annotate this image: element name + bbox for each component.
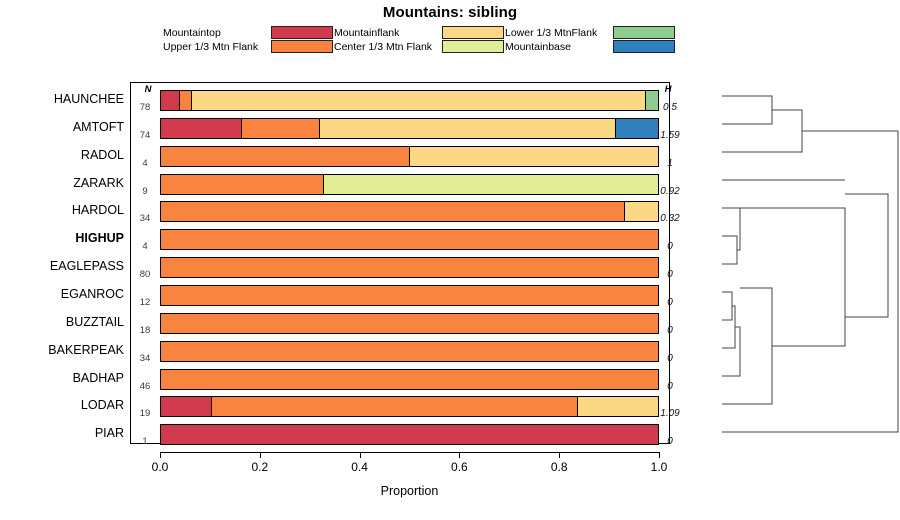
legend-swatch-icon	[442, 26, 504, 39]
row-n-value: 12	[132, 297, 158, 308]
row-label-lodar: LODAR	[0, 398, 124, 412]
row-label-buzztail: BUZZTAIL	[0, 315, 124, 329]
row-n-value: 9	[132, 186, 158, 197]
row-label-highup: HIGHUP	[0, 231, 124, 245]
legend-item-label: Mountainbase	[505, 40, 571, 54]
row-label-amtoft: AMTOFT	[0, 120, 124, 134]
x-tick-label: 1.0	[639, 460, 679, 474]
stacked-bar[interactable]	[160, 369, 659, 390]
row-label-badhap: BADHAP	[0, 371, 124, 385]
bar-segment[interactable]	[161, 202, 625, 221]
row-n-value: 18	[132, 325, 158, 336]
row-n-value: 46	[132, 381, 158, 392]
bar-segment[interactable]	[161, 91, 180, 110]
bar-segment[interactable]	[192, 91, 646, 110]
chart-root: Mountains: sibling MountaintopUpper 1/3 …	[0, 0, 900, 520]
row-h-value: 0	[655, 353, 685, 364]
stacked-bar[interactable]	[160, 90, 659, 111]
row-h-value: 0	[655, 325, 685, 336]
x-tick-label: 0.6	[439, 460, 479, 474]
legend-item-label: Center 1/3 Mtn Flank	[334, 40, 432, 54]
row-n-value: 4	[132, 241, 158, 252]
row-h-value: 0	[655, 269, 685, 280]
x-tick-mark	[360, 452, 361, 458]
x-tick-label: 0.8	[539, 460, 579, 474]
row-label-haunchee: HAUNCHEE	[0, 92, 124, 106]
x-tick-mark	[260, 452, 261, 458]
x-axis-label: Proportion	[160, 484, 659, 498]
bar-segment[interactable]	[410, 147, 659, 166]
bar-segment[interactable]	[161, 425, 658, 444]
row-n-value: 34	[132, 353, 158, 364]
row-h-value: 0	[655, 436, 685, 447]
legend: MountaintopUpper 1/3 Mtn FlankMountainfl…	[163, 26, 683, 56]
x-tick-mark	[160, 452, 161, 458]
row-label-eaglepass: EAGLEPASS	[0, 259, 124, 273]
row-n-value: 1	[132, 436, 158, 447]
bar-segment[interactable]	[180, 91, 192, 110]
legend-item-label: Upper 1/3 Mtn Flank	[163, 40, 258, 54]
bar-segment[interactable]	[161, 230, 658, 249]
row-label-piar: PIAR	[0, 426, 124, 440]
x-tick-mark	[459, 452, 460, 458]
legend-item-label: Lower 1/3 MtnFlank	[505, 26, 597, 40]
stacked-bar[interactable]	[160, 201, 659, 222]
row-h-value: 1.59	[655, 130, 685, 141]
row-h-value: 0.92	[655, 186, 685, 197]
legend-swatch-icon	[613, 40, 675, 53]
row-h-value: 0.5	[655, 102, 685, 113]
legend-swatch-icon	[271, 40, 333, 53]
x-tick-mark	[559, 452, 560, 458]
row-h-value: 0	[655, 381, 685, 392]
x-tick-mark	[659, 452, 660, 458]
row-n-value: 34	[132, 213, 158, 224]
row-n-value: 19	[132, 408, 158, 419]
stacked-bar[interactable]	[160, 257, 659, 278]
stacked-bar[interactable]	[160, 285, 659, 306]
bar-segment[interactable]	[161, 342, 658, 361]
legend-item-label: Mountaintop	[163, 26, 221, 40]
bar-segment[interactable]	[324, 175, 658, 194]
n-column-header: N	[134, 84, 162, 95]
bar-segment[interactable]	[161, 397, 212, 416]
bar-segment[interactable]	[320, 119, 616, 138]
legend-item-label: Mountainflank	[334, 26, 399, 40]
row-label-bakerpeak: BAKERPEAK	[0, 343, 124, 357]
row-n-value: 80	[132, 269, 158, 280]
stacked-bar[interactable]	[160, 174, 659, 195]
dendrogram	[690, 82, 900, 444]
row-n-value: 74	[132, 130, 158, 141]
legend-swatch-icon	[613, 26, 675, 39]
bar-segment[interactable]	[212, 397, 579, 416]
x-tick-label: 0.0	[140, 460, 180, 474]
stacked-bar[interactable]	[160, 313, 659, 334]
bar-segment[interactable]	[578, 397, 658, 416]
row-h-value: 0	[655, 241, 685, 252]
bar-segment[interactable]	[161, 258, 658, 277]
bar-segment[interactable]	[161, 147, 410, 166]
stacked-bar[interactable]	[160, 341, 659, 362]
row-n-value: 78	[132, 102, 158, 113]
bar-segment[interactable]	[625, 202, 658, 221]
row-h-value: 1.09	[655, 408, 685, 419]
row-label-radol: RADOL	[0, 148, 124, 162]
stacked-bar[interactable]	[160, 424, 659, 445]
row-h-value: 1	[655, 158, 685, 169]
x-tick-label: 0.2	[240, 460, 280, 474]
legend-swatch-icon	[271, 26, 333, 39]
stacked-bar[interactable]	[160, 396, 659, 417]
page-title: Mountains: sibling	[0, 4, 900, 21]
row-label-hardol: HARDOL	[0, 203, 124, 217]
row-n-value: 4	[132, 158, 158, 169]
stacked-bar[interactable]	[160, 229, 659, 250]
legend-swatch-icon	[442, 40, 504, 53]
row-label-eganroc: EGANROC	[0, 287, 124, 301]
x-tick-label: 0.4	[340, 460, 380, 474]
bar-segment[interactable]	[161, 286, 658, 305]
bar-segment[interactable]	[161, 370, 658, 389]
row-label-zarark: ZARARK	[0, 176, 124, 190]
x-axis-line	[160, 452, 659, 453]
bar-segment[interactable]	[161, 314, 658, 333]
bar-segment[interactable]	[616, 119, 658, 138]
bar-segment[interactable]	[161, 119, 242, 138]
stacked-bar[interactable]	[160, 146, 659, 167]
stacked-bar[interactable]	[160, 118, 659, 139]
row-h-value: 0	[655, 297, 685, 308]
dendrogram-svg	[690, 82, 900, 444]
bar-segment[interactable]	[161, 175, 324, 194]
bar-segment[interactable]	[242, 119, 320, 138]
row-h-value: 0.32	[655, 213, 685, 224]
